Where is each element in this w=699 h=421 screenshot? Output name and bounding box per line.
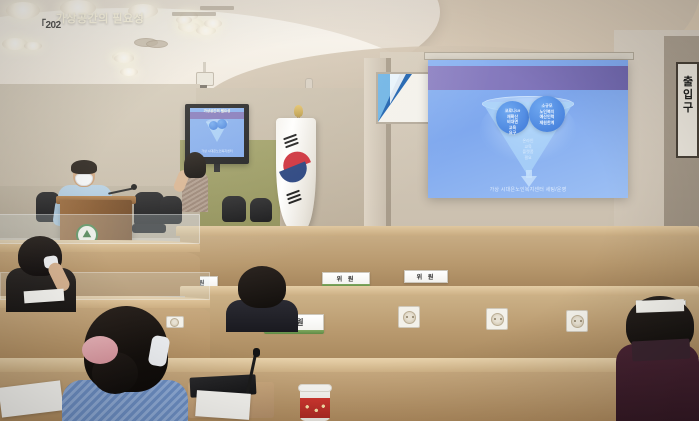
flag-finial bbox=[294, 105, 303, 117]
ceiling-downlight bbox=[176, 16, 192, 24]
ceiling-vent bbox=[146, 40, 168, 48]
office-chair bbox=[222, 196, 246, 222]
monitor-bubble-right bbox=[217, 119, 227, 129]
ceiling-slot bbox=[200, 6, 234, 10]
paper-sheet bbox=[636, 299, 684, 313]
outlet-pin bbox=[574, 320, 576, 322]
funnel-middle-label: 온라인 교육 플랫폼 필요 bbox=[504, 138, 552, 160]
outlet-pin bbox=[494, 318, 496, 320]
slide-title: 가상공간의 필요성 bbox=[30, 10, 170, 26]
microphone-icon bbox=[131, 184, 137, 190]
projection-screen-housing bbox=[424, 52, 634, 60]
ceiling-downlight bbox=[204, 19, 222, 28]
outlet-pin bbox=[500, 318, 502, 320]
conference-room-photo: 「202 출 입 구 코로나19 재확산 비대면 교육 요구 소규모 노인복지 … bbox=[0, 0, 699, 421]
monitor-arm bbox=[214, 164, 220, 172]
monitor-slide-title: 가상공간의 필요성 bbox=[196, 109, 238, 114]
ceiling-slot bbox=[172, 12, 216, 16]
desk-tier-1-surface bbox=[176, 226, 699, 236]
hair-scrunchie bbox=[82, 336, 118, 364]
power-outlet-socket bbox=[571, 315, 584, 328]
paper-stack bbox=[195, 390, 251, 420]
office-chair bbox=[250, 198, 272, 222]
attendee-right-document bbox=[632, 338, 691, 361]
power-outlet-socket bbox=[491, 313, 504, 326]
slide-bubble-right-label: 소규모 노인복지 예산인력 제원한계 bbox=[529, 103, 565, 125]
slide-caption: 가상 시대은노인복지센터 세팅/운영 bbox=[450, 186, 606, 193]
ceiling-downlight bbox=[24, 42, 42, 50]
ceiling-downlight bbox=[120, 68, 138, 76]
standing-assistant-head bbox=[184, 152, 206, 178]
outlet-pin bbox=[412, 316, 414, 318]
monitor-slide-caption: 가상 시대은노인복지센터 bbox=[196, 149, 238, 153]
banner-wedge-white bbox=[390, 74, 406, 104]
coffee-cup-lid bbox=[298, 384, 332, 392]
outlet-pin bbox=[580, 320, 582, 322]
coffee-cup-sleeve-pattern bbox=[302, 402, 328, 414]
outlet-pin bbox=[406, 316, 408, 318]
power-outlet-socket bbox=[403, 311, 416, 324]
power-outlet-socket bbox=[170, 318, 179, 327]
projection-screen: 코로나19 재확산 비대면 교육 요구 소규모 노인복지 예산인력 제원한계 온… bbox=[428, 60, 628, 198]
attendee-mid-head bbox=[238, 266, 286, 308]
presenter-hair bbox=[71, 160, 97, 174]
slide-title-bar bbox=[428, 66, 628, 90]
exit-sign-label: 출 입 구 bbox=[681, 76, 695, 115]
ceiling-downlight bbox=[114, 54, 134, 63]
nameplate-label: 위 원 bbox=[322, 274, 370, 283]
microphone-icon bbox=[253, 348, 260, 357]
slide-bubble-left-label: 코로나19 재확산 비대면 교육 요구 bbox=[496, 108, 529, 136]
nameplate-label: 위 원 bbox=[404, 272, 448, 281]
